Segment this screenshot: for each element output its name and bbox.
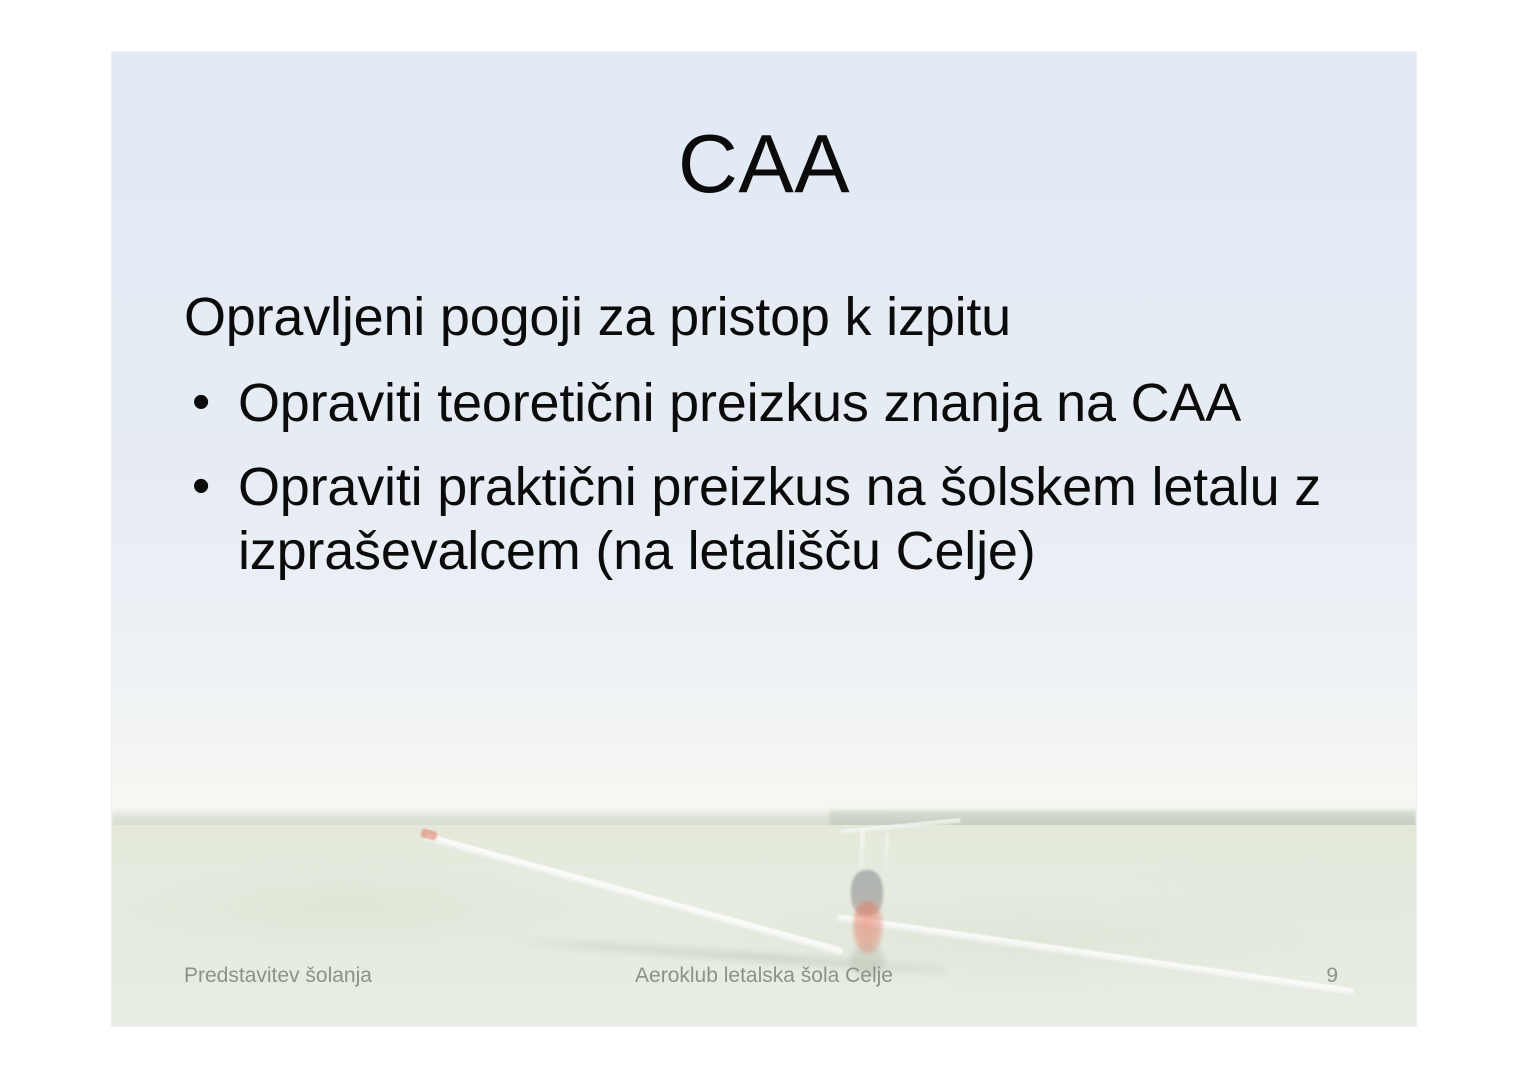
presentation-slide: CAA Opravljeni pogoji za pristop k izpit… xyxy=(112,52,1416,1026)
body-lead-line: Opravljeni pogoji za pristop k izpitu xyxy=(184,288,1392,346)
bullet-item-text: Opraviti teoretični preizkus znanja na C… xyxy=(238,372,1392,436)
bullet-list-item: • Opraviti praktični preizkus na šolskem… xyxy=(184,456,1392,583)
slide-footer: Predstavitev šolanja Aeroklub letalska š… xyxy=(112,964,1416,998)
bullet-point-icon: • xyxy=(184,456,238,517)
bullet-point-icon: • xyxy=(184,372,238,433)
footer-page-number: 9 xyxy=(1326,964,1338,988)
slide-canvas: CAA Opravljeni pogoji za pristop k izpit… xyxy=(0,0,1527,1080)
bullet-list-item: • Opraviti teoretični preizkus znanja na… xyxy=(184,372,1392,436)
slide-body: Opravljeni pogoji za pristop k izpitu • … xyxy=(184,288,1392,583)
footer-center-text: Aeroklub letalska šola Celje xyxy=(112,964,1416,988)
slide-title: CAA xyxy=(112,122,1416,205)
bullet-item-text: Opraviti praktični preizkus na šolskem l… xyxy=(238,456,1392,583)
slide-content: CAA Opravljeni pogoji za pristop k izpit… xyxy=(112,52,1416,1026)
